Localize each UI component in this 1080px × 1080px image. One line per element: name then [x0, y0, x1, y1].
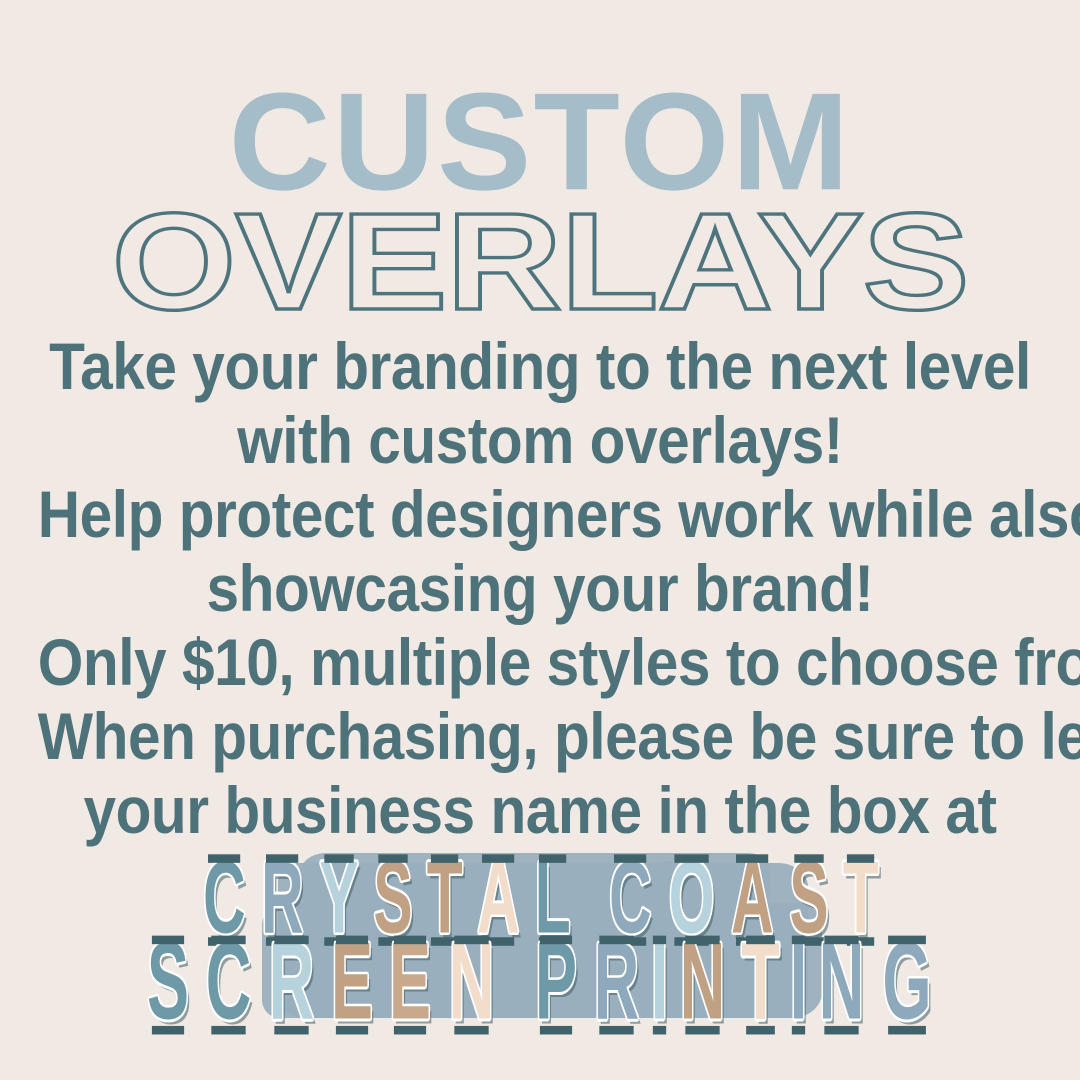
logo-letter: E	[389, 927, 431, 1037]
body-line: Help protect designers work while also	[38, 476, 1042, 554]
logo-letter: T	[741, 927, 779, 1037]
body-line: Take your branding to the next level	[38, 328, 1042, 406]
logo-letter: S	[147, 927, 189, 1037]
logo-letter-space	[505, 927, 523, 1037]
logo-letter: P	[535, 927, 577, 1037]
body-line: your business name in the box at	[38, 772, 1042, 850]
logo-letter: E	[331, 927, 373, 1037]
body-copy-block: Take your branding to the next level wit…	[0, 330, 1080, 922]
logo-letter: N	[448, 927, 494, 1037]
body-line: Only $10, multiple styles to choose from…	[38, 624, 1042, 702]
logo-letter: N	[818, 927, 864, 1037]
logo-letter: C	[206, 927, 252, 1037]
logo-letter: R	[593, 927, 639, 1037]
headline-line-overlays: OVERLAYS	[0, 193, 1080, 331]
logo-letter: I	[789, 927, 807, 1037]
logo-letter: I	[650, 927, 668, 1037]
body-line: with custom overlays!	[38, 402, 1042, 480]
logo-line-screen-printing: SCREEN PRINTING	[0, 937, 1080, 1027]
logo-letter: N	[679, 927, 725, 1037]
logo-letter: R	[269, 927, 315, 1037]
body-line: When purchasing, please be sure to leave	[38, 698, 1042, 776]
headline-block: CUSTOM OVERLAYS	[0, 0, 1080, 330]
logo-watermark: CRYSTAL COAST SCREEN PRINTING	[0, 845, 1080, 1050]
logo-letter: G	[882, 927, 931, 1037]
body-line: showcasing your brand!	[38, 550, 1042, 628]
promo-poster: CUSTOM OVERLAYS Take your branding to th…	[0, 0, 1080, 1080]
